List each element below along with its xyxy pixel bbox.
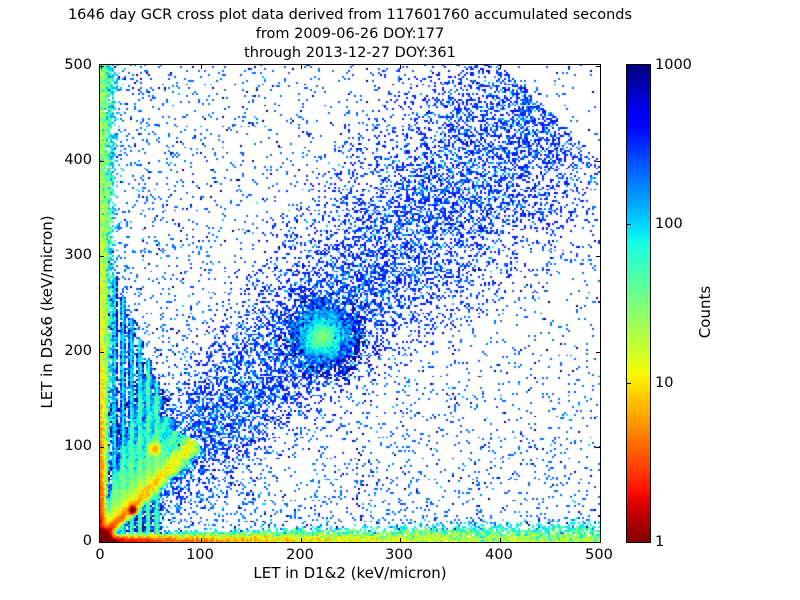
title-line-1: 1646 day GCR cross plot data derived fro… — [0, 6, 700, 25]
y-tick-mark — [596, 161, 600, 162]
x-tick-mark — [600, 538, 601, 542]
x-tick-label: 0 — [95, 547, 104, 563]
x-axis-label: LET in D1&2 (keV/micron) — [99, 564, 601, 582]
x-tick-mark — [500, 65, 501, 69]
x-tick-label: 100 — [186, 547, 214, 563]
y-tick-mark — [596, 542, 600, 543]
y-axis-label: LET in D5&6 (keV/micron) — [38, 162, 56, 462]
title-line-3: through 2013-12-27 DOY:361 — [0, 44, 700, 63]
x-tick-mark — [201, 65, 202, 69]
x-tick-mark — [400, 65, 401, 69]
colorbar-tick-label: 1 — [655, 534, 664, 550]
colorbar-tick-label: 1000 — [655, 57, 692, 73]
plot-title: 1646 day GCR cross plot data derived fro… — [0, 6, 700, 63]
y-tick-mark — [100, 352, 104, 353]
y-tick-mark — [596, 447, 600, 448]
plot-area — [99, 64, 601, 543]
y-tick-mark — [100, 161, 104, 162]
x-tick-mark — [600, 65, 601, 69]
y-tick-mark — [596, 256, 600, 257]
scatter-heatmap — [100, 65, 600, 542]
colorbar-tick-mark — [626, 383, 631, 384]
x-tick-mark — [500, 538, 501, 542]
x-tick-mark — [301, 65, 302, 69]
x-tick-label: 300 — [385, 547, 413, 563]
colorbar-gradient — [627, 65, 650, 542]
x-tick-label: 400 — [485, 547, 513, 563]
y-tick-mark — [100, 66, 104, 67]
x-tick-label: 500 — [585, 547, 613, 563]
figure-canvas: 1646 day GCR cross plot data derived fro… — [0, 0, 800, 600]
y-tick-mark — [596, 352, 600, 353]
colorbar-title: Counts — [696, 192, 714, 432]
y-tick-label: 500 — [0, 57, 92, 73]
x-tick-mark — [301, 538, 302, 542]
colorbar-tick-label: 10 — [655, 375, 673, 391]
x-tick-mark — [201, 538, 202, 542]
y-tick-mark — [100, 256, 104, 257]
colorbar-tick-label: 100 — [655, 216, 683, 232]
colorbar — [626, 64, 651, 543]
y-tick-mark — [596, 66, 600, 67]
x-tick-label: 200 — [286, 547, 314, 563]
title-line-2: from 2009-06-26 DOY:177 — [0, 25, 700, 44]
x-tick-mark — [400, 538, 401, 542]
y-tick-mark — [100, 447, 104, 448]
y-tick-label: 0 — [0, 533, 92, 549]
colorbar-tick-mark — [626, 224, 631, 225]
y-tick-mark — [100, 542, 104, 543]
